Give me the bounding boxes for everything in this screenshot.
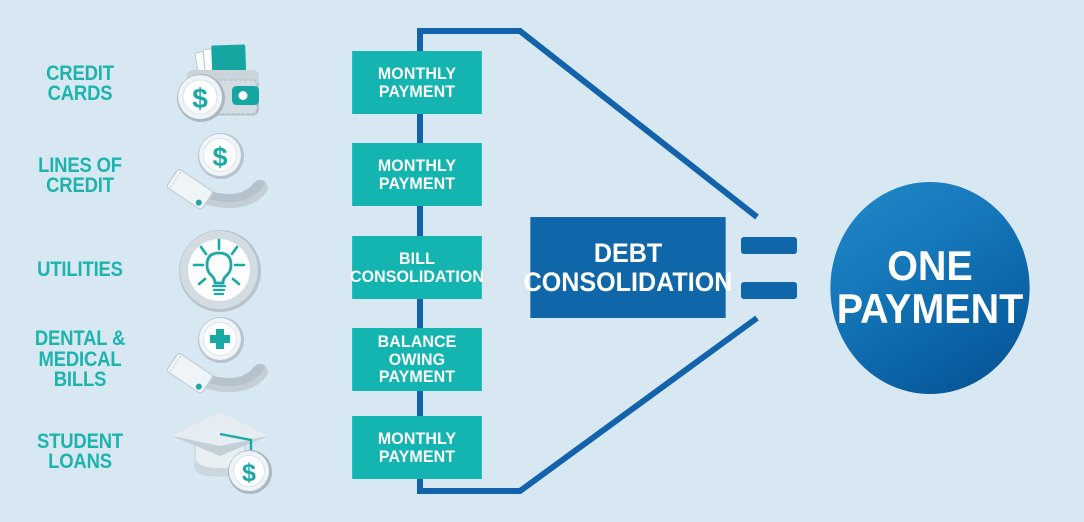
hand-dollar-coin-icon: $ xyxy=(160,128,280,224)
category-row-lines-of-credit: LINES OF CREDIT $ xyxy=(0,128,330,224)
svg-text:$: $ xyxy=(212,142,227,172)
lightbulb-circle-icon xyxy=(160,222,280,318)
category-label: LINES OF CREDIT xyxy=(10,156,151,197)
payment-box[interactable]: MONTHLY PAYMENT xyxy=(352,143,482,206)
svg-text:$: $ xyxy=(192,83,208,114)
wallet-cards-coin-icon: $ xyxy=(160,36,280,132)
category-row-dental-medical-bills: DENTAL & MEDICAL BILLS xyxy=(0,312,330,408)
category-row-credit-cards: CREDIT CARDS $ xyxy=(0,36,330,132)
one-payment-circle[interactable]: ONE PAYMENT xyxy=(830,182,1029,394)
graduation-cap-coin-icon: $ xyxy=(160,404,280,500)
equals-sign-icon xyxy=(741,237,797,299)
category-row-student-loans: STUDENT LOANS $ xyxy=(0,404,330,500)
svg-text:$: $ xyxy=(242,459,256,487)
payment-box[interactable]: BILL CONSOLIDATION xyxy=(352,236,482,299)
equals-bar-bottom xyxy=(741,282,797,299)
category-label: CREDIT CARDS xyxy=(10,64,151,105)
infographic-canvas: CREDIT CARDS $ L xyxy=(0,0,1084,522)
payment-box[interactable]: MONTHLY PAYMENT xyxy=(352,416,482,479)
category-label: DENTAL & MEDICAL BILLS xyxy=(10,329,151,390)
category-row-utilities: UTILITIES xyxy=(0,222,330,318)
category-label: UTILITIES xyxy=(10,260,151,280)
category-label: STUDENT LOANS xyxy=(10,432,151,473)
equals-bar-top xyxy=(741,237,797,254)
debt-consolidation-box[interactable]: DEBT CONSOLIDATION xyxy=(530,217,725,318)
payment-box[interactable]: BALANCE OWING PAYMENT xyxy=(352,328,482,391)
hand-medical-cross-icon xyxy=(160,312,280,408)
payment-box[interactable]: MONTHLY PAYMENT xyxy=(352,51,482,114)
